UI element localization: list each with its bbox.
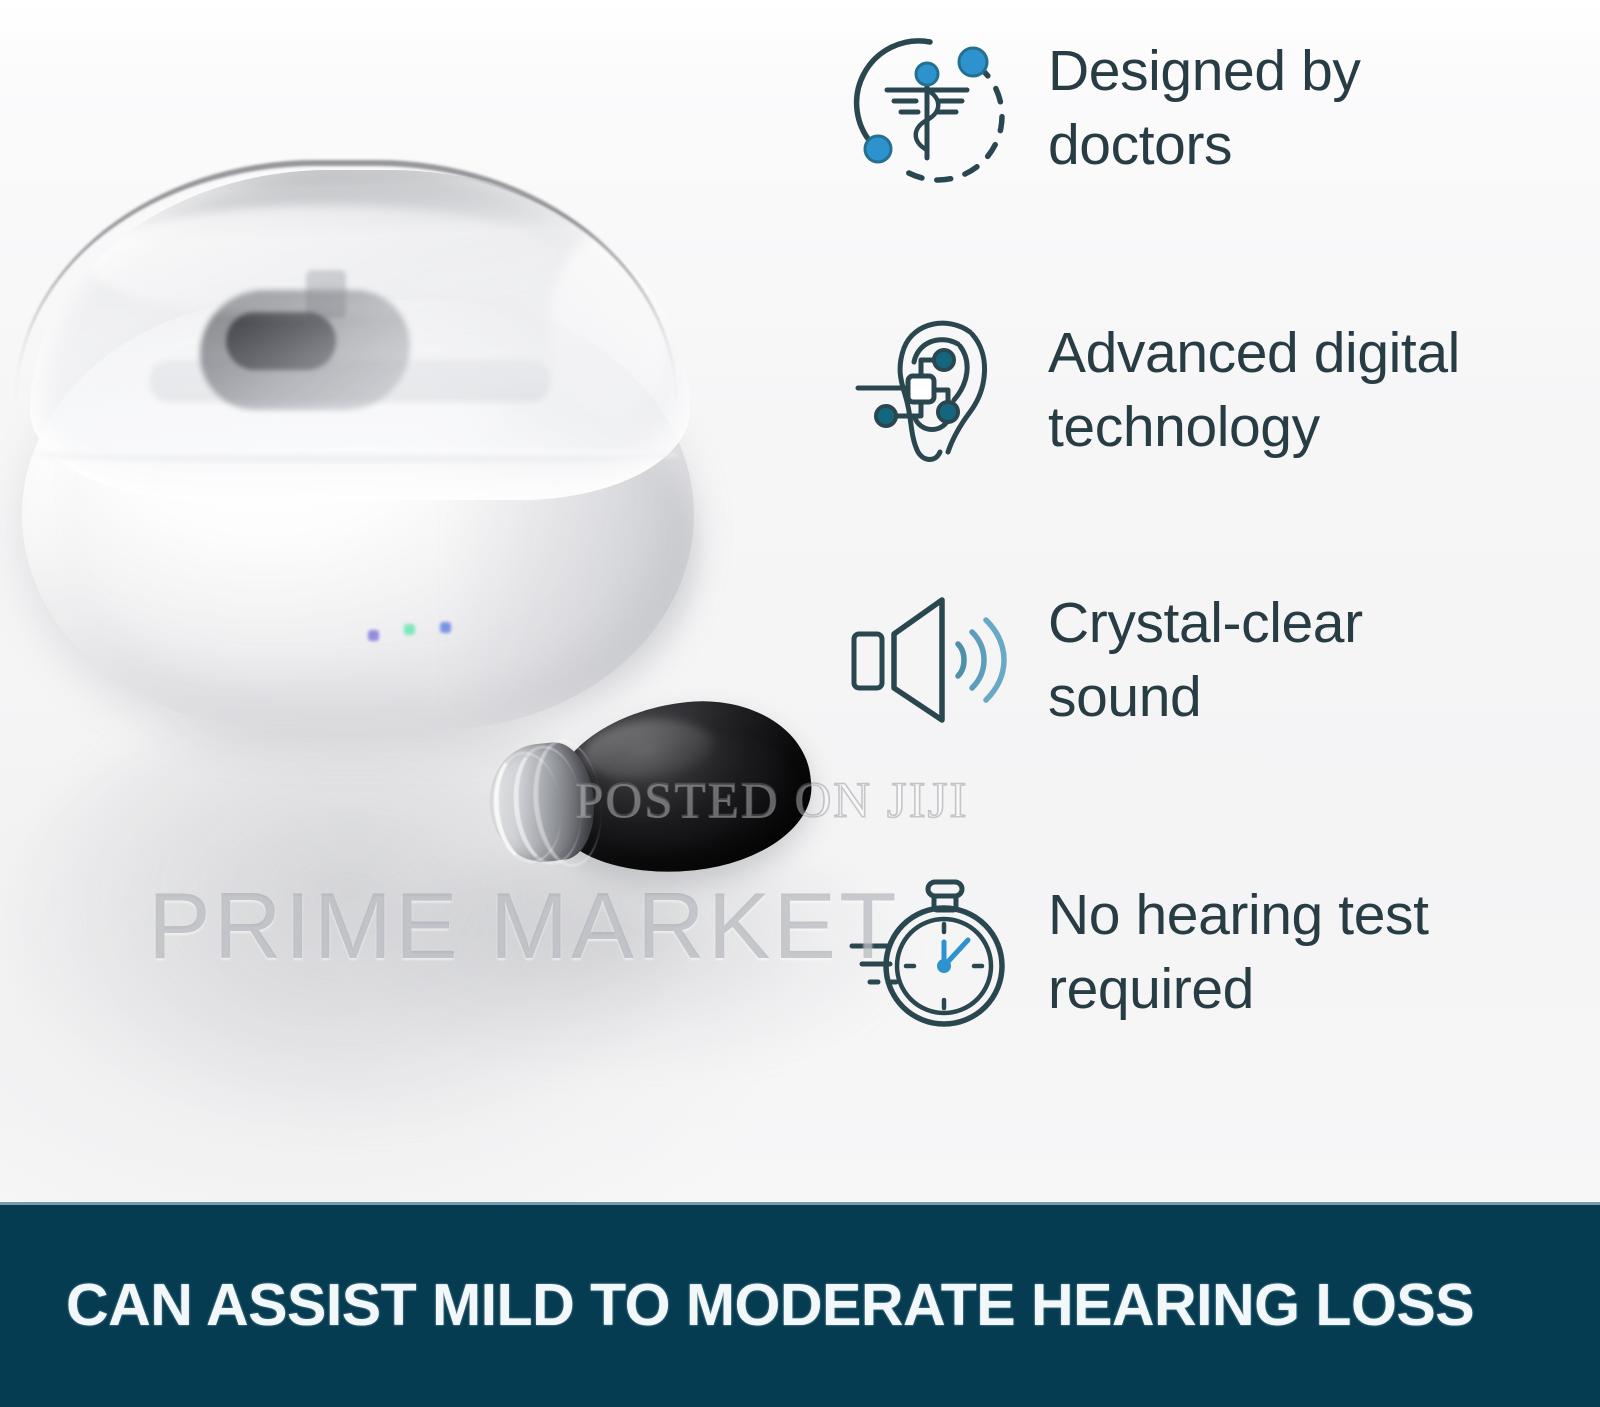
product-marketing-image: Designed by doctors	[0, 0, 1600, 1407]
charging-case-led-indicators	[368, 624, 478, 640]
feature-label: No hearing test required	[1048, 878, 1429, 1026]
feature-label: Crystal-clear sound	[1048, 586, 1363, 734]
charging-case-seam	[32, 448, 680, 462]
caduceus-medical-icon	[846, 22, 1018, 194]
speaker-sound-waves-icon	[846, 590, 1018, 730]
led-blue	[440, 622, 451, 633]
led-purple	[368, 630, 379, 641]
feature-label: Advanced digital technology	[1048, 316, 1460, 464]
feature-item-crystal-clear-sound: Crystal-clear sound	[846, 586, 1586, 734]
ear-digital-circuit-icon	[846, 304, 1018, 476]
stopwatch-icon	[846, 866, 1018, 1038]
feature-item-no-hearing-test-required: No hearing test required	[846, 866, 1586, 1038]
feature-label: Designed by doctors	[1048, 34, 1360, 182]
banner-headline: CAN ASSIST MILD TO MODERATE HEARING LOSS	[0, 1271, 1474, 1339]
feature-item-advanced-digital-technology: Advanced digital technology	[846, 304, 1586, 476]
product-photo-stage: Designed by doctors	[0, 0, 1600, 1202]
bottom-banner: CAN ASSIST MILD TO MODERATE HEARING LOSS	[0, 1202, 1600, 1407]
earbud	[471, 682, 840, 917]
charging-case	[16, 160, 716, 740]
led-green	[404, 624, 415, 635]
top-white-margin	[0, 0, 1600, 4]
feature-item-designed-by-doctors: Designed by doctors	[846, 22, 1586, 194]
lid-rim	[16, 160, 676, 490]
